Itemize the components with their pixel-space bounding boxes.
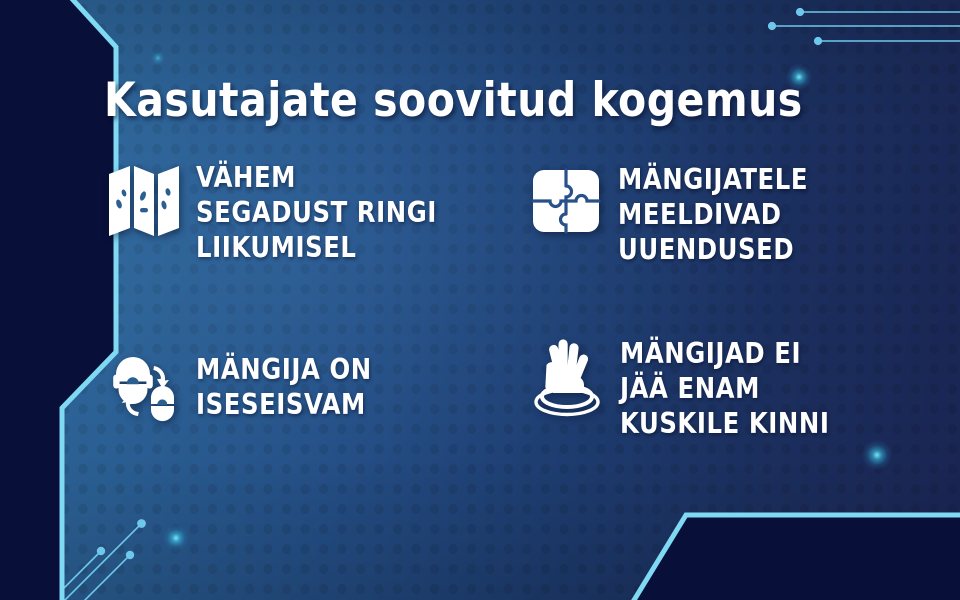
page-title: Kasutajate soovitud kogemus [104,72,803,130]
slide-canvas: Kasutajate soovitud kogemus [0,0,960,600]
player-swap-headset-icon [110,350,182,424]
puzzle-pieces-icon [528,160,604,242]
feature-item-player-independent: MÄNGIJA ON ISESEISVAM [110,350,381,424]
feature-item-not-stuck: MÄNGIJAD EI JÄÄ ENAM KUSKILE KINNI [524,332,841,441]
hand-sinking-ripple-icon [524,332,606,422]
feature-label: MÄNGIJATELE MEELDIVAD UUENDUSED [618,160,808,267]
feature-item-less-confusion: VÄHEM SEGADUST RINGI LIIKUMISEL [106,160,450,265]
feature-label: MÄNGIJAD EI JÄÄ ENAM KUSKILE KINNI [620,332,829,441]
slide-content: Kasutajate soovitud kogemus [0,0,960,600]
feature-label: VÄHEM SEGADUST RINGI LIIKUMISEL [196,160,437,265]
feature-label: MÄNGIJA ON ISESEISVAM [196,350,372,422]
folded-map-icon [106,160,182,242]
feature-item-players-like-updates: MÄNGIJATELE MEELDIVAD UUENDUSED [528,160,818,267]
